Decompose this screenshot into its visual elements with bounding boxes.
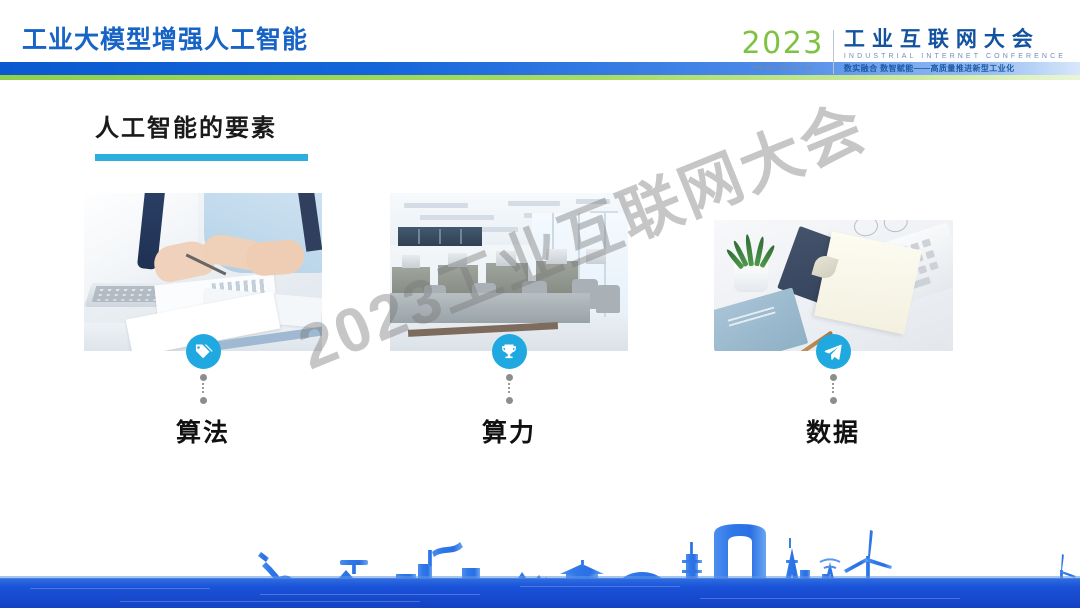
industrial-city-skyline (0, 508, 1080, 608)
open-office-photo (390, 193, 628, 351)
logo-name-block: 工业互联网大会 INDUSTRIAL INTERNET CONFERENCE 数… (834, 29, 1066, 74)
card-label: 算力 (482, 413, 536, 449)
page-title: 工业大模型增强人工智能 (22, 20, 308, 56)
trophy-icon (492, 334, 527, 369)
section-heading-underline (95, 154, 308, 161)
card-connector (200, 374, 207, 404)
element-card: 算法 (84, 193, 322, 449)
paper-plane-icon (816, 334, 851, 369)
desk-flatlay-photo (714, 220, 953, 351)
element-cards: 算法 (0, 193, 1080, 463)
card-connector (830, 374, 837, 404)
presentation-slide: 工业大模型增强人工智能 2023 中国·苏州 9月14日-16日 工业互联网大会… (0, 0, 1080, 608)
logo-slogan: 数实融合 数智赋能——高质量推进新型工业化 (844, 63, 1066, 74)
logo-year-block: 2023 中国·苏州 9月14日-16日 (742, 29, 833, 71)
business-meeting-photo (84, 193, 322, 351)
logo-name-en: INDUSTRIAL INTERNET CONFERENCE (844, 53, 1066, 60)
logo-name-cn: 工业互联网大会 (844, 29, 1066, 51)
tag-icon (186, 334, 221, 369)
footer-skyline (0, 508, 1080, 608)
conference-logo: 2023 中国·苏州 9月14日-16日 工业互联网大会 INDUSTRIAL … (742, 29, 1066, 81)
card-label: 数据 (806, 413, 860, 449)
card-label: 算法 (176, 413, 230, 449)
logo-year-subtitle: 中国·苏州 9月14日-16日 (753, 64, 813, 71)
card-connector (506, 374, 513, 404)
element-card: 算力 (390, 193, 628, 449)
element-card: 数据 (714, 193, 952, 449)
section-heading-text: 人工智能的要素 (95, 108, 308, 143)
logo-year: 2023 (742, 29, 824, 59)
section-heading: 人工智能的要素 (95, 108, 308, 161)
